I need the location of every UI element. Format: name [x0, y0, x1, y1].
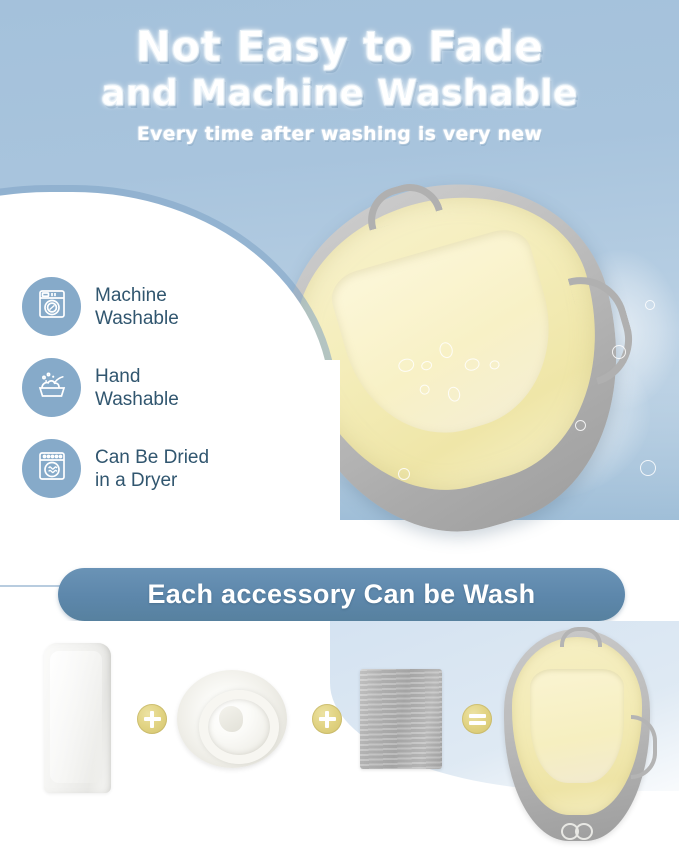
lounger-handle: [560, 627, 602, 647]
equals-operator-icon: [462, 704, 492, 734]
grey-folded-cover: [360, 669, 442, 769]
feature-label-line-1: Hand: [95, 366, 140, 387]
infographic-page: Not Easy to Fade and Machine Washable Ev…: [0, 0, 679, 849]
feature-label: Can Be Dried in a Dryer: [95, 446, 209, 492]
rolled-mattress-pad: [177, 670, 287, 768]
feature-item-machine-washable: Machine Washable: [22, 277, 272, 336]
accessory-banner-text: Each accessory Can be Wash: [148, 579, 536, 610]
accessory-banner: Each accessory Can be Wash: [58, 568, 625, 621]
feature-item-hand-washable: Hand Washable: [22, 358, 272, 417]
washing-machine-icon: [35, 287, 69, 326]
feature-label-line-2: in a Dryer: [95, 470, 177, 491]
assembled-baby-lounger: [504, 629, 650, 841]
feature-list: Machine Washable: [22, 277, 272, 520]
feature-badge: [22, 277, 81, 336]
feature-label: Machine Washable: [95, 284, 179, 330]
feature-label-line-2: Washable: [95, 308, 179, 329]
hand-wash-basin-icon: [35, 368, 69, 407]
feature-label-line-1: Machine: [95, 285, 167, 306]
lounger-side-strap: [631, 715, 657, 779]
tumble-dryer-icon: [35, 449, 69, 488]
feature-label-line-1: Can Be Dried: [95, 447, 209, 468]
plus-operator-icon: [137, 704, 167, 734]
feature-badge: [22, 358, 81, 417]
feature-badge: [22, 439, 81, 498]
mattress-cover-sheet: [44, 643, 111, 793]
accessory-strip: [0, 621, 679, 849]
plus-operator-icon: [312, 704, 342, 734]
accessory-items: [0, 621, 679, 849]
feature-label: Hand Washable: [95, 365, 179, 411]
lounger-bow: [561, 821, 593, 839]
feature-item-tumble-dryer: Can Be Dried in a Dryer: [22, 439, 272, 498]
feature-label-line-2: Washable: [95, 389, 179, 410]
